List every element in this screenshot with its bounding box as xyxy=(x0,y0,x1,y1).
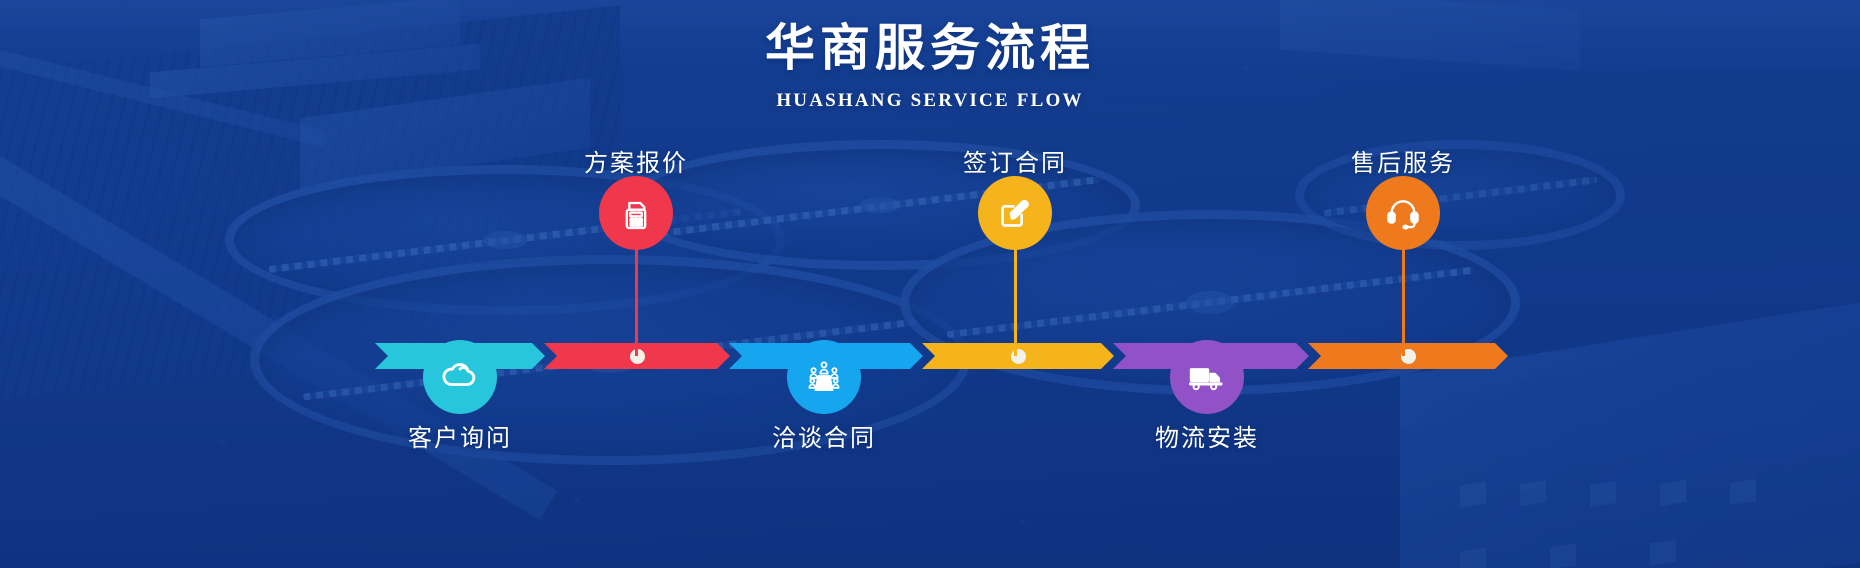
flow-marker-3[interactable] xyxy=(787,340,861,414)
flow-step-label-2: 方案报价 xyxy=(584,143,688,178)
flow-marker-4[interactable] xyxy=(978,176,1052,250)
pos-calculator-icon xyxy=(616,193,656,233)
flow-step-label-4: 签订合同 xyxy=(963,143,1067,178)
cloud-chat-icon xyxy=(440,357,480,397)
pen-edit-icon xyxy=(995,193,1035,233)
flow-marker-6[interactable] xyxy=(1366,176,1440,250)
page-title: 华商服务流程 xyxy=(0,18,1860,78)
flow-arrow-4[interactable] xyxy=(922,343,1114,369)
banner-header: 华商服务流程 HUASHANG SERVICE FLOW xyxy=(0,18,1860,112)
meeting-table-icon xyxy=(804,357,844,397)
service-flow-banner: 华商服务流程 HUASHANG SERVICE FLOW 客户询问方案报价洽谈合… xyxy=(0,0,1860,568)
flow-step-label-5: 物流安装 xyxy=(1155,418,1259,453)
flow-connector-stem-6 xyxy=(1402,247,1405,356)
flow-marker-2[interactable] xyxy=(599,176,673,250)
flow-marker-5[interactable] xyxy=(1170,340,1244,414)
flow-connector-stem-4 xyxy=(1014,247,1017,356)
page-subtitle: HUASHANG SERVICE FLOW xyxy=(0,90,1860,112)
flow-connector-stem-2 xyxy=(635,247,638,356)
flow-step-label-3: 洽谈合同 xyxy=(772,418,876,453)
flow-arrow-6[interactable] xyxy=(1308,343,1508,369)
flow-marker-1[interactable] xyxy=(423,340,497,414)
flow-arrow-row xyxy=(375,343,1507,369)
flow-step-label-1: 客户询问 xyxy=(408,418,512,453)
delivery-truck-icon xyxy=(1187,357,1227,397)
headset-support-icon xyxy=(1383,193,1423,233)
flow-step-label-6: 售后服务 xyxy=(1351,143,1455,178)
